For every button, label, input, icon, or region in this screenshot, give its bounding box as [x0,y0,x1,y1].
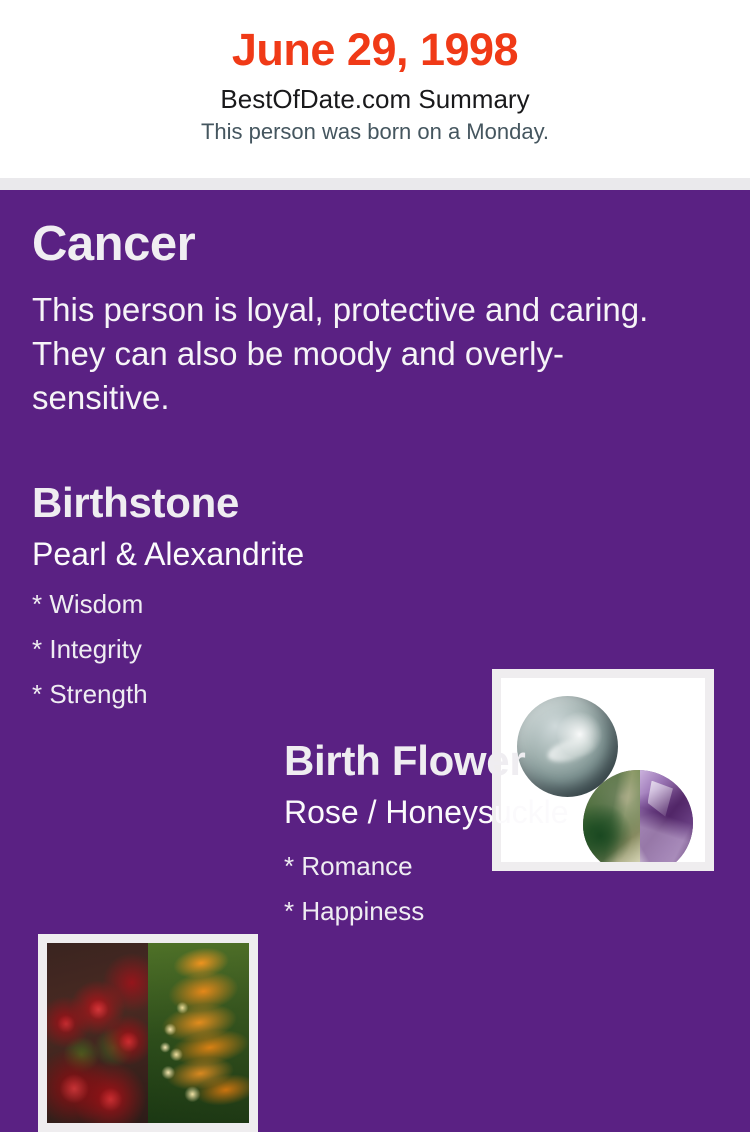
birth-day-note: This person was born on a Monday. [0,115,750,146]
birthstone-trait-list: * Wisdom * Integrity * Strength [32,582,148,717]
zodiac-description: This person is loyal, protective and car… [32,288,652,420]
list-item: * Romance [284,844,424,889]
zodiac-sign-title: Cancer [32,216,195,272]
list-item: * Strength [32,672,148,717]
birth-flower-trait-list: * Romance * Happiness [284,844,424,934]
summary-panel: Cancer This person is loyal, protective … [0,190,750,1000]
birthstone-heading: Birthstone [32,478,239,528]
birth-flower-photo-frame [38,934,258,1132]
birth-flower-photo [47,943,249,1123]
alexandrite-rough-half [583,770,640,862]
birth-flower-heading: Birth Flower [284,736,525,786]
rose-photo-half [47,943,148,1123]
birth-flower-name: Rose / Honeysuckle [284,792,569,832]
list-item: * Integrity [32,627,148,672]
page-title-date: June 29, 1998 [0,0,750,76]
alexandrite-faceted-half [640,770,693,862]
honeysuckle-photo-half [148,943,249,1123]
header: June 29, 1998 BestOfDate.com Summary Thi… [0,0,750,178]
birthstone-name: Pearl & Alexandrite [32,534,304,574]
birthstone-photo [501,678,705,862]
site-name: BestOfDate.com Summary [0,76,750,115]
alexandrite-gem-icon [583,770,693,862]
infographic-card: June 29, 1998 BestOfDate.com Summary Thi… [0,0,750,1000]
header-divider [0,178,750,190]
list-item: * Wisdom [32,582,148,627]
list-item: * Happiness [284,889,424,934]
